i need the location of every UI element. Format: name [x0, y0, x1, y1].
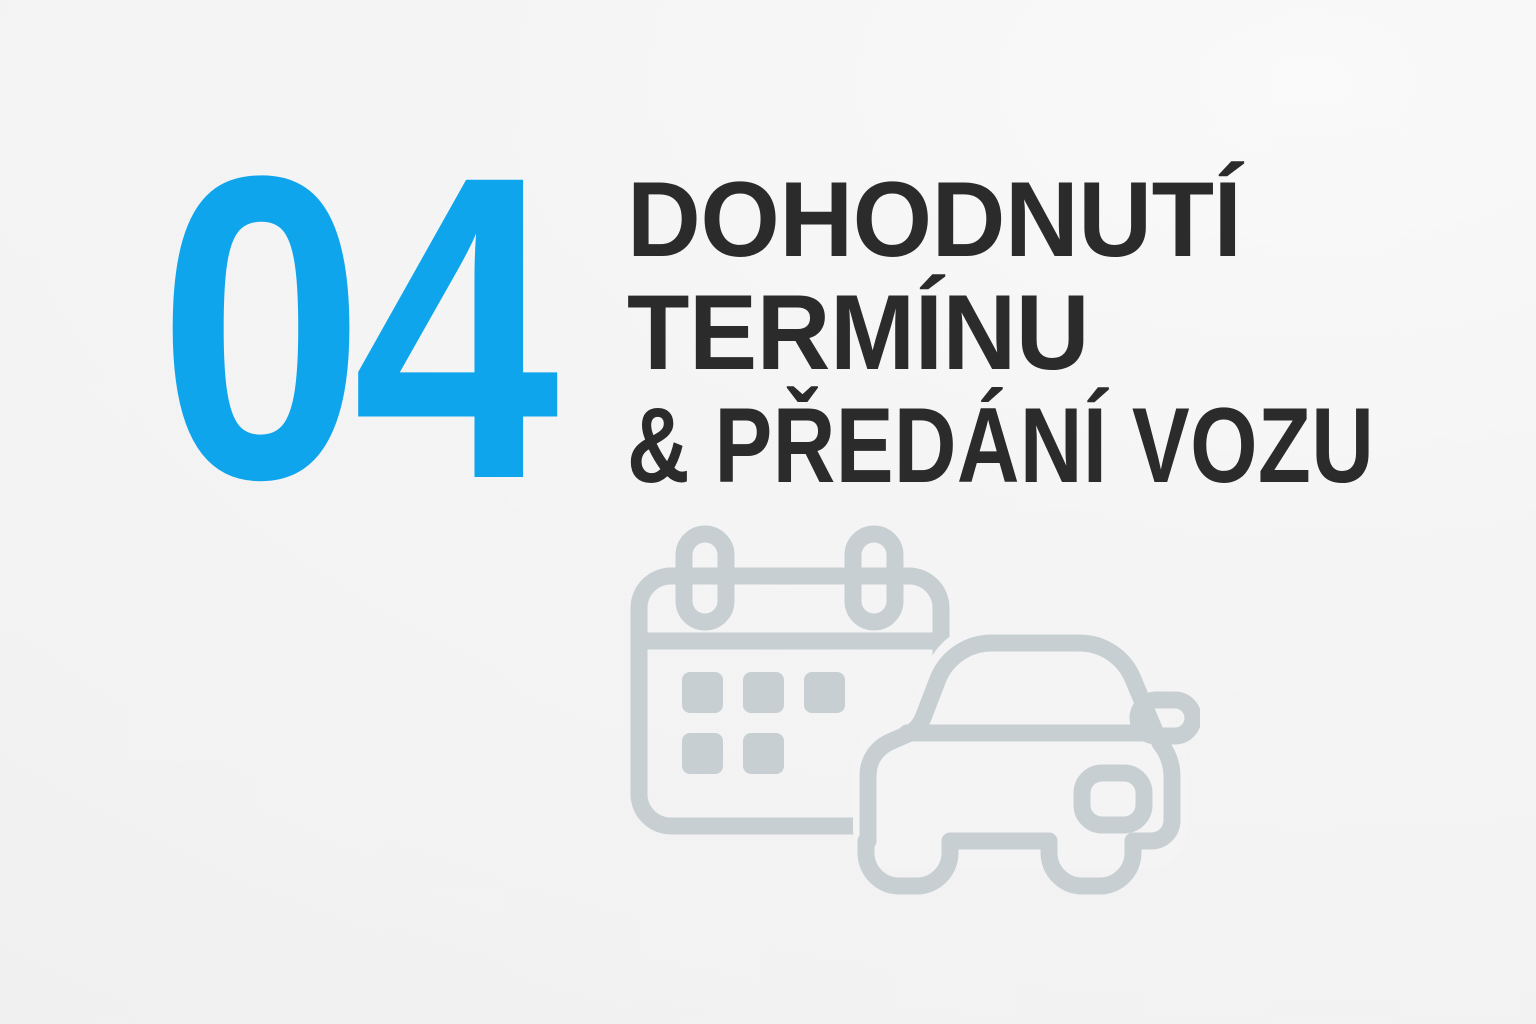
calendar-and-car-illustration — [620, 524, 1200, 904]
calendar-day-cell — [682, 733, 723, 774]
page-title-line-2: TERMÍNU — [627, 276, 1448, 389]
slide-canvas: 04 DOHODNUTÍ TERMÍNU & PŘEDÁNÍ VOZU — [0, 0, 1536, 1024]
calendar-day-cell — [743, 672, 784, 713]
calendar-day-cell — [682, 672, 723, 713]
calendar-and-car-icon — [620, 524, 1200, 904]
calendar-day-cells — [682, 672, 845, 774]
calendar-day-cell — [804, 672, 845, 713]
page-title-line-3: & PŘEDÁNÍ VOZU — [627, 389, 1324, 502]
car-icon — [863, 633, 1193, 886]
page-title-line-1: DOHODNUTÍ — [627, 163, 1448, 276]
page-title: DOHODNUTÍ TERMÍNU & PŘEDÁNÍ VOZU — [627, 163, 1487, 502]
step-number: 04 — [158, 142, 547, 514]
calendar-day-cell — [743, 733, 784, 774]
